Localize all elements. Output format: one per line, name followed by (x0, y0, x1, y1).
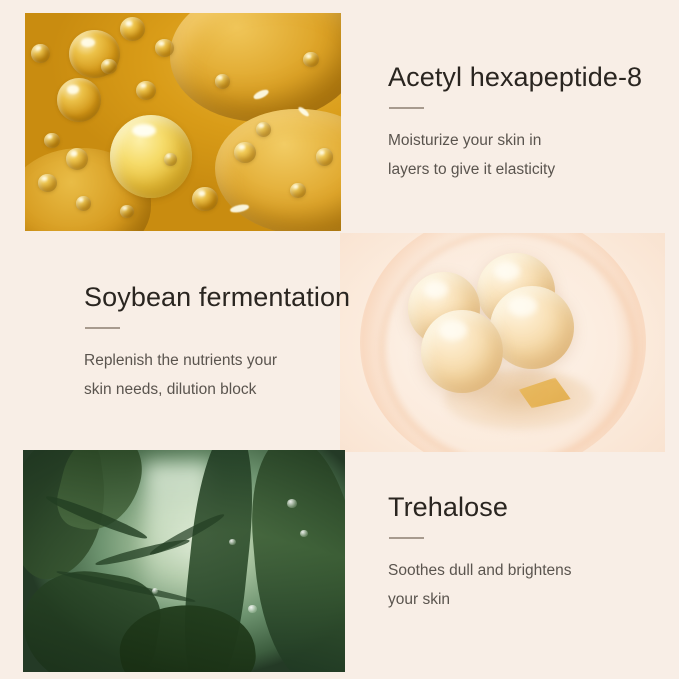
ingredient-block-trehalose: Trehalose Soothes dull and brightens you… (388, 492, 572, 614)
description-line: layers to give it elasticity (388, 156, 642, 185)
peach-spheres-bubble-photo (340, 233, 665, 452)
ingredient-block-acetyl-hexapeptide-8: Acetyl hexapeptide-8 Moisturize your ski… (388, 62, 642, 184)
oil-droplet (66, 148, 88, 170)
water-bubble (287, 499, 297, 508)
title-divider-rule (389, 537, 424, 539)
oil-droplet (164, 153, 177, 166)
water-bubble (300, 530, 308, 538)
oil-droplet (136, 81, 157, 101)
golden-oil-bubbles-photo (25, 13, 341, 231)
ingredient-title: Trehalose (388, 492, 572, 523)
description-line: skin needs, dilution block (84, 376, 350, 405)
description-line: Replenish the nutrients your (84, 347, 350, 376)
title-divider-rule (389, 107, 424, 109)
oil-droplet (192, 187, 217, 211)
oil-droplet (38, 174, 57, 191)
ingredient-block-soybean-fermentation: Soybean fermentation Replenish the nutri… (84, 282, 350, 404)
oil-droplet (155, 39, 174, 56)
ingredient-title: Soybean fermentation (84, 282, 350, 313)
green-kelp-seaweed-photo (23, 450, 345, 672)
description-line: Moisturize your skin in (388, 127, 642, 156)
title-divider-rule (85, 327, 120, 329)
oil-droplet (120, 205, 134, 218)
oil-droplet (57, 78, 101, 122)
ingredient-title: Acetyl hexapeptide-8 (388, 62, 642, 93)
oil-droplet (316, 148, 333, 165)
ingredient-infographic: Acetyl hexapeptide-8 Moisturize your ski… (0, 0, 679, 679)
oil-droplet (44, 133, 60, 148)
water-bubble (152, 588, 158, 594)
description-line: your skin (388, 586, 572, 615)
oil-droplet (101, 59, 117, 74)
ingredient-description: Soothes dull and brightens your skin (388, 557, 572, 614)
ingredient-description: Moisturize your skin in layers to give i… (388, 127, 642, 184)
description-line: Soothes dull and brightens (388, 557, 572, 586)
ingredient-description: Replenish the nutrients your skin needs,… (84, 347, 350, 404)
peach-sphere (421, 310, 502, 393)
water-bubble (229, 539, 235, 545)
oil-droplet (234, 142, 256, 164)
